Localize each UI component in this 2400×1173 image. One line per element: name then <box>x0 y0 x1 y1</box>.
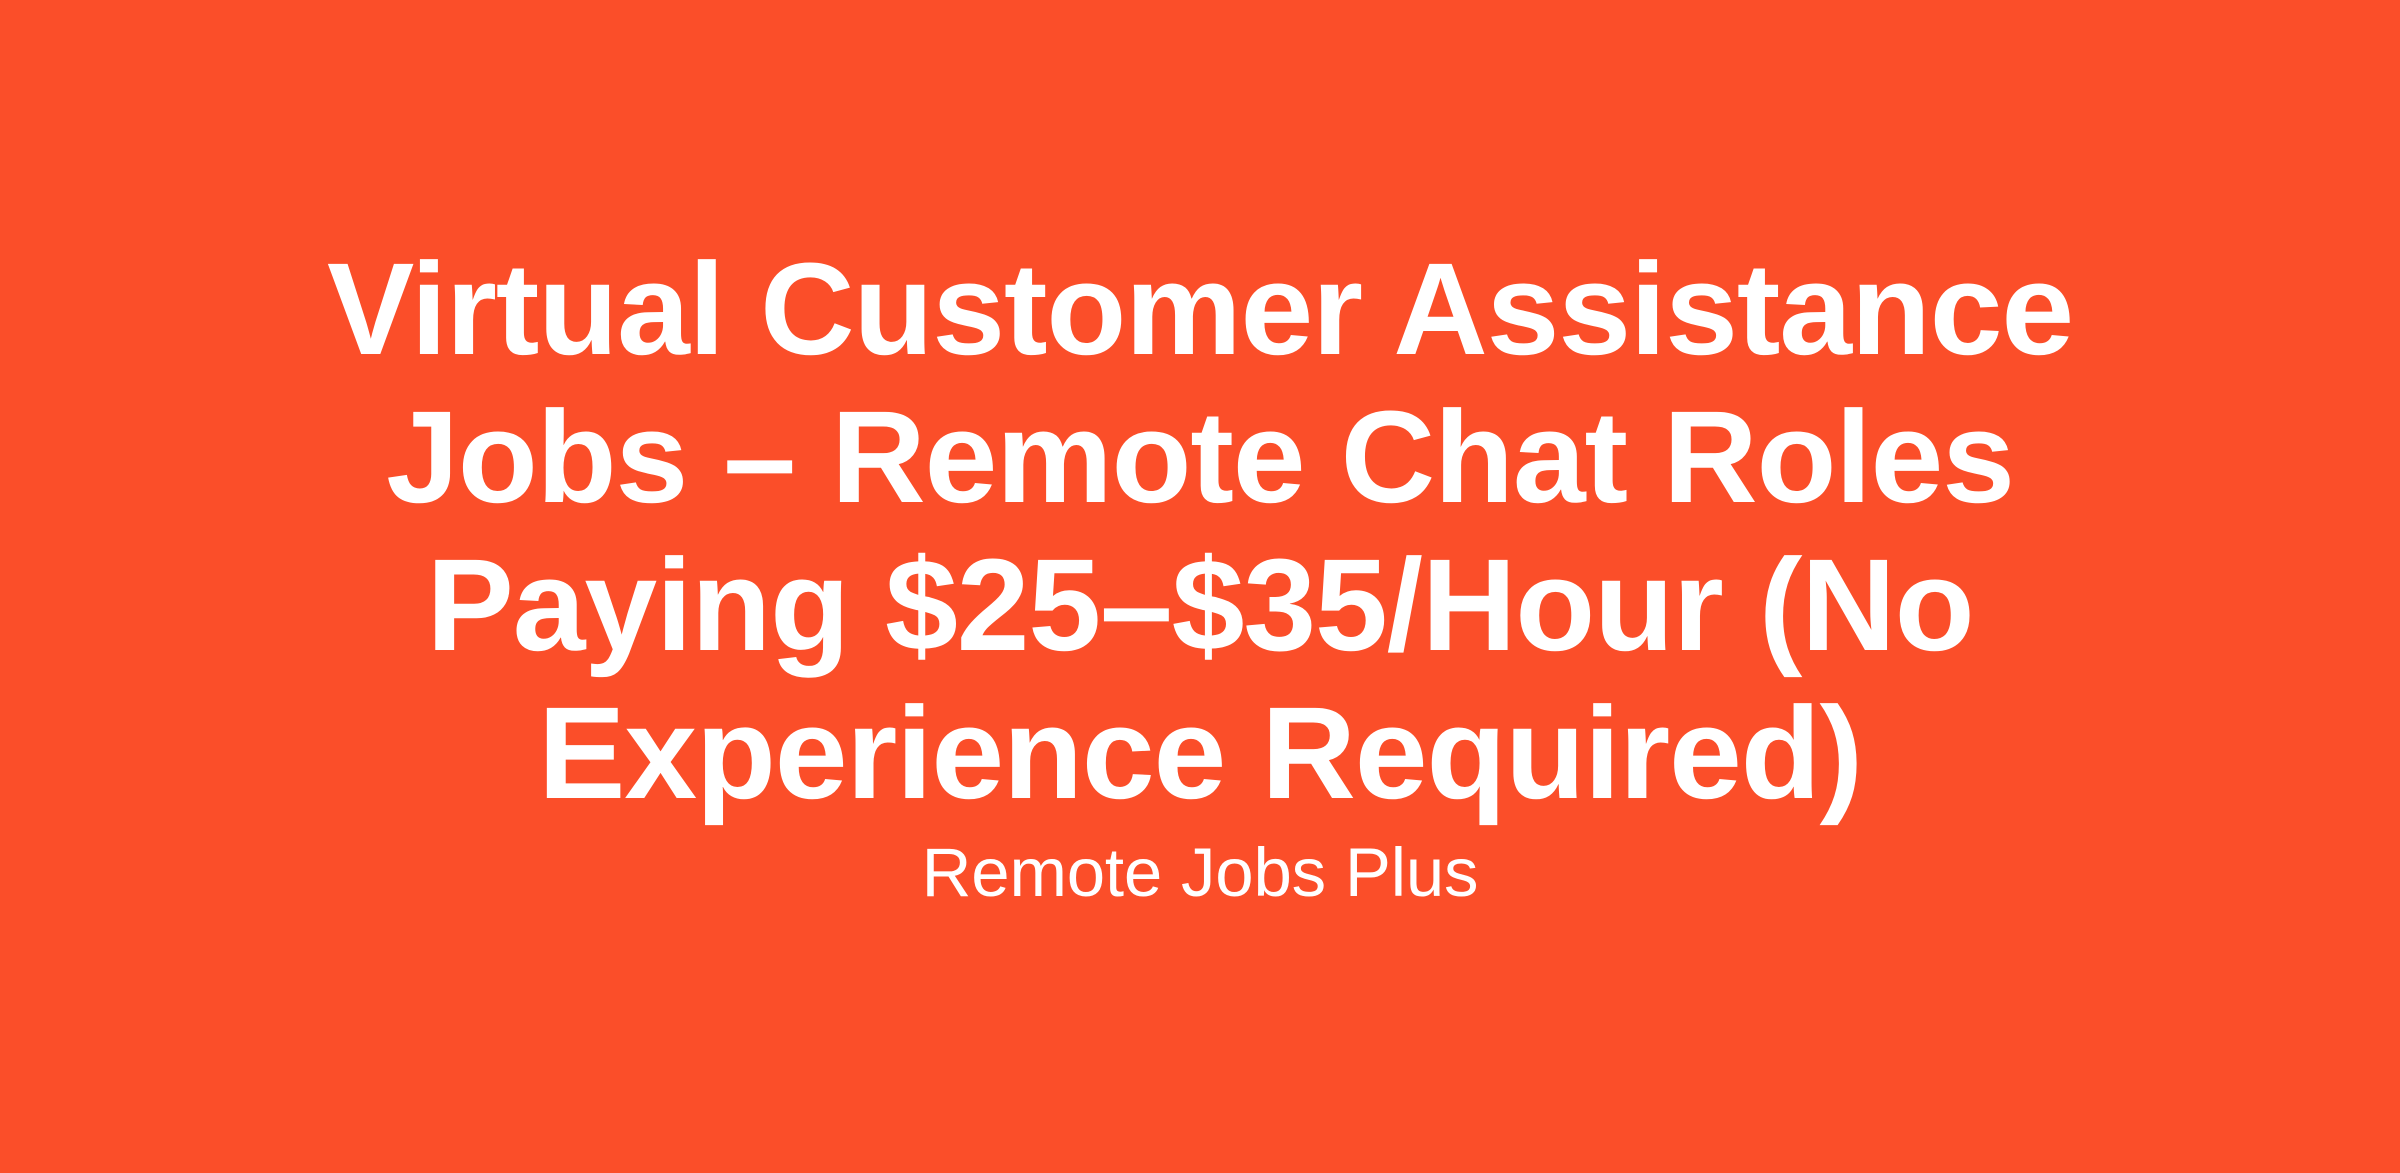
text-stack: Virtual Customer Assistance Jobs – Remot… <box>320 235 2080 919</box>
page-title: Virtual Customer Assistance Jobs – Remot… <box>320 235 2080 827</box>
share-card: Virtual Customer Assistance Jobs – Remot… <box>0 0 2400 1173</box>
site-name: Remote Jobs Plus <box>320 827 2080 919</box>
